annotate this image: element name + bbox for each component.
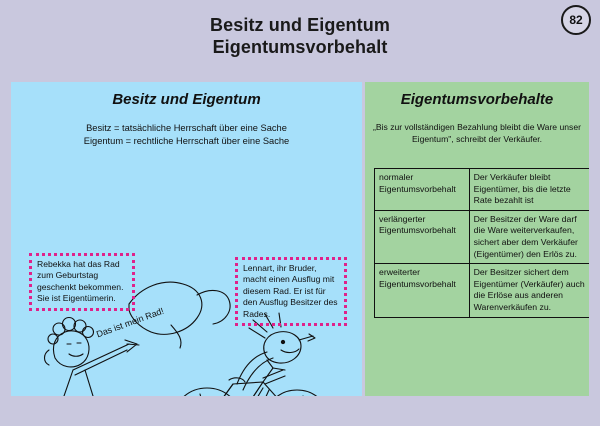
illustration xyxy=(11,82,362,396)
row-type: erweiterter Eigentumsvorbehalt xyxy=(375,264,470,317)
right-panel: Eigentumsvorbehalte „Bis zur vollständig… xyxy=(365,82,589,396)
seller-quote: „Bis zur vollständigen Bezahlung bleibt … xyxy=(365,121,589,145)
right-panel-heading: Eigentumsvorbehalte xyxy=(365,91,589,108)
row-description: Der Verkäufer bleibt Eigentümer, bis die… xyxy=(469,169,589,211)
row-description: Der Besitzer der Ware darf die Ware weit… xyxy=(469,210,589,263)
table-row: normaler Eigentumsvorbehalt Der Verkäufe… xyxy=(375,169,590,211)
slide-root: Besitz und Eigentum Eigentumsvorbehalt 8… xyxy=(0,0,600,426)
row-type: normaler Eigentumsvorbehalt xyxy=(375,169,470,211)
title-line-1: Besitz und Eigentum xyxy=(0,14,600,36)
eigentumsvorbehalt-table: normaler Eigentumsvorbehalt Der Verkäufe… xyxy=(374,168,589,318)
info-box-besitzer: Lennart, ihr Bruder, macht einen Ausflug… xyxy=(235,257,347,326)
table-row: verlängerter Eigentumsvorbehalt Der Besi… xyxy=(375,210,590,263)
page-title: Besitz und Eigentum Eigentumsvorbehalt xyxy=(0,14,600,58)
info-box-eigentuemerin: Rebekka hat das Rad zum Geburtstag gesch… xyxy=(29,253,135,311)
row-type: verlängerter Eigentumsvorbehalt xyxy=(375,210,470,263)
left-panel: Besitz und Eigentum Besitz = tatsächlich… xyxy=(11,82,362,396)
title-line-2: Eigentumsvorbehalt xyxy=(0,36,600,58)
page-number-badge: 82 xyxy=(561,5,591,35)
table-row: erweiterter Eigentumsvorbehalt Der Besit… xyxy=(375,264,590,317)
row-description: Der Besitzer sichert dem Eigentümer (Ver… xyxy=(469,264,589,317)
